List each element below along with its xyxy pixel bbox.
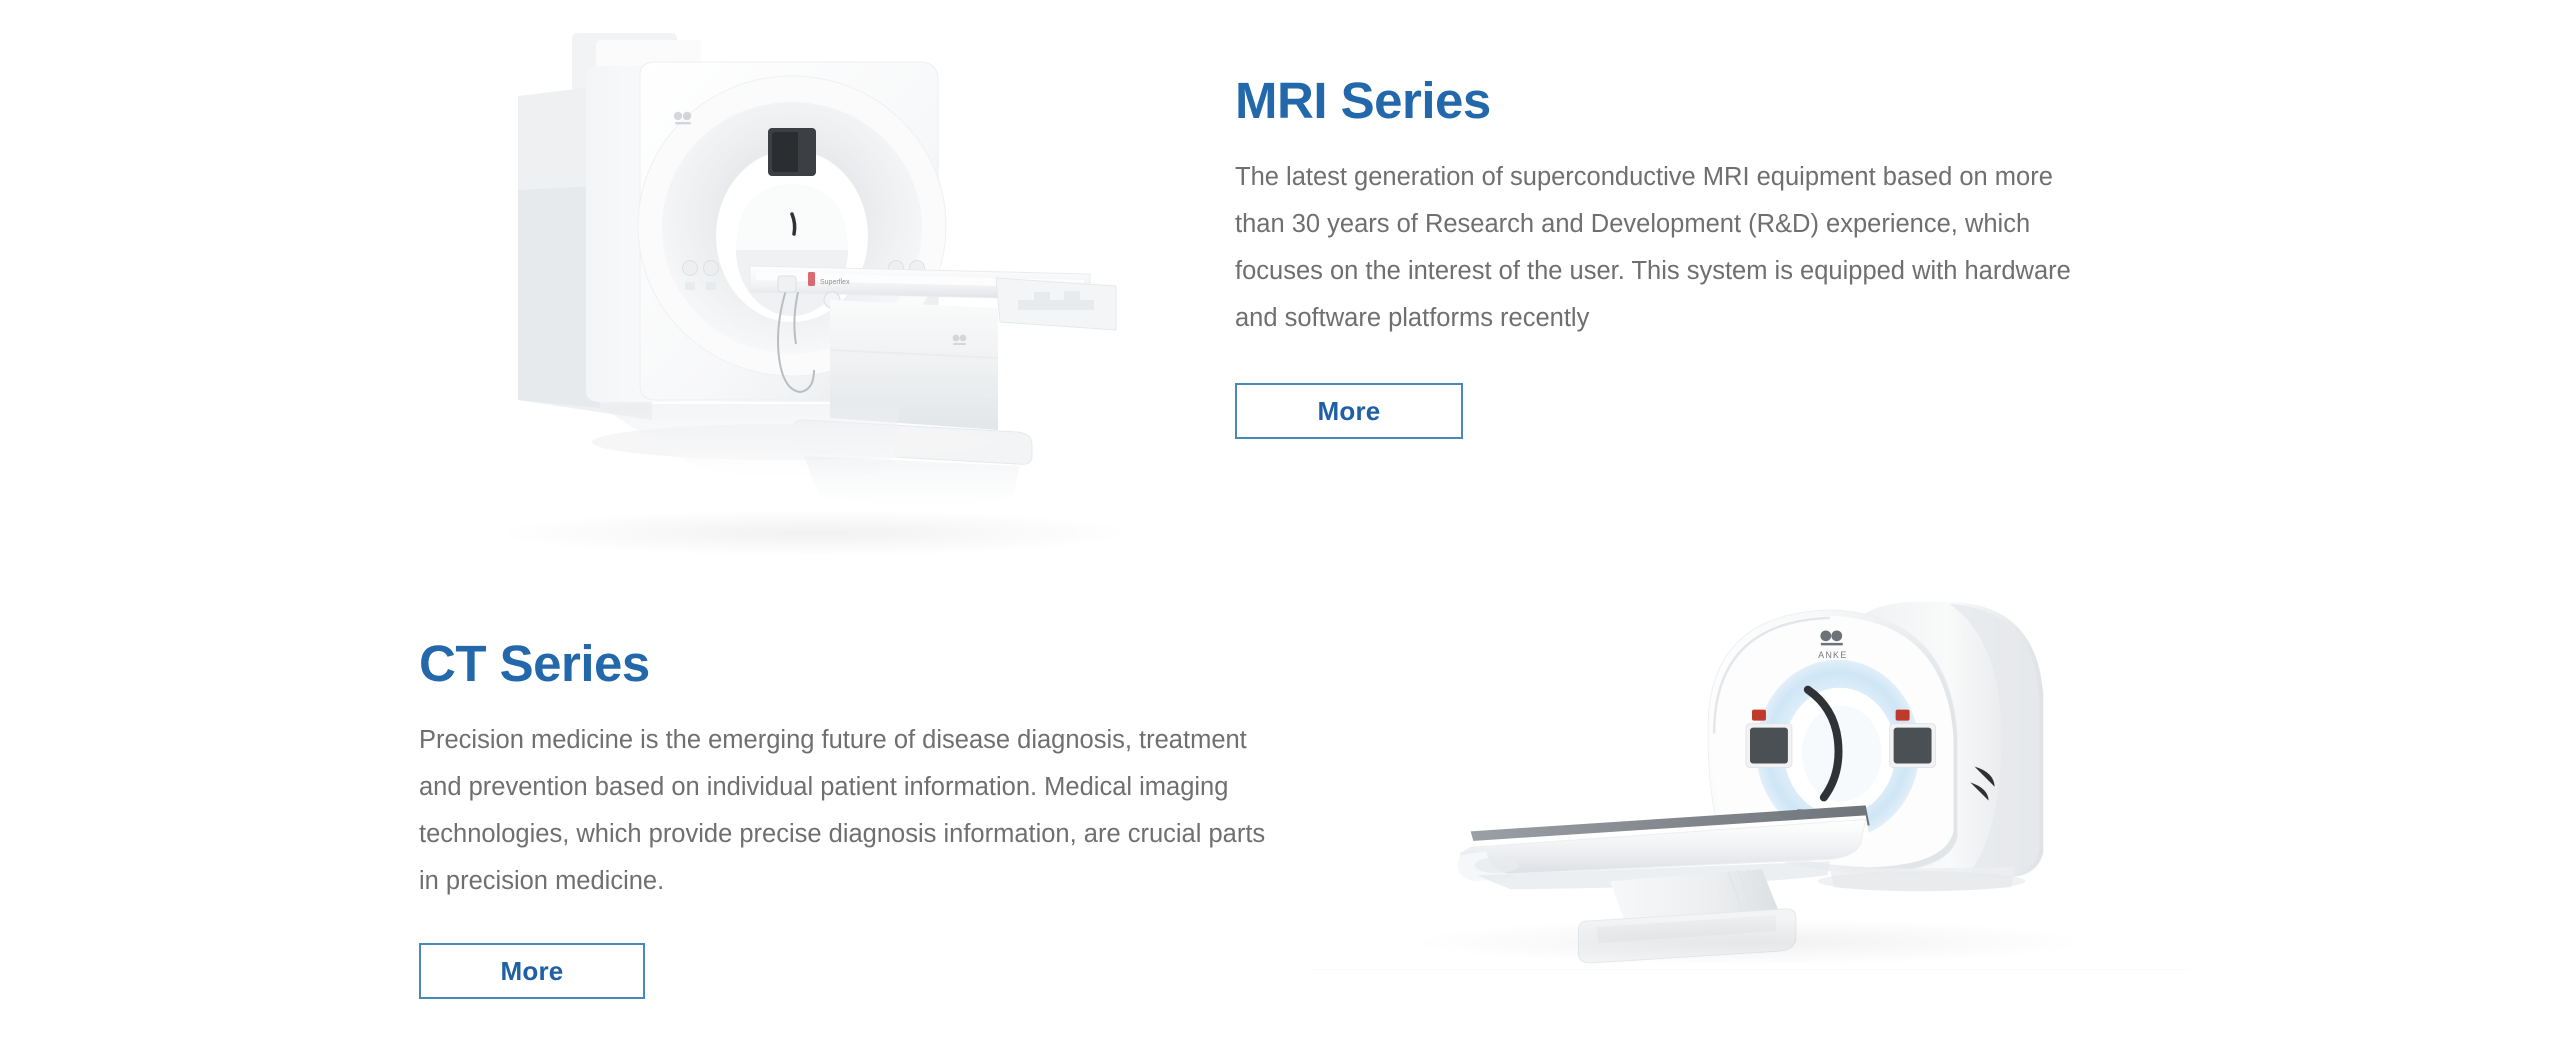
mri-text-column: MRI Series The latest generation of supe… xyxy=(1230,0,2130,439)
ct-series-description: Precision medicine is the emerging futur… xyxy=(419,717,1289,906)
svg-text:Superflex: Superflex xyxy=(820,279,850,286)
product-series-page: Superflex xyxy=(0,0,2560,1044)
mri-series-title: MRI Series xyxy=(1235,74,2130,128)
mri-scanner-photo: Superflex xyxy=(400,0,1230,560)
ct-scanner-photo: ANKE xyxy=(1310,570,2190,970)
svg-text:ANKE: ANKE xyxy=(1818,650,1847,660)
mri-more-button[interactable]: More xyxy=(1235,383,1463,439)
ct-series-title: CT Series xyxy=(419,637,1300,691)
ct-more-button[interactable]: More xyxy=(419,943,645,999)
ct-text-column: CT Series Precision medicine is the emer… xyxy=(400,560,1300,999)
section-ct-series: CT Series Precision medicine is the emer… xyxy=(0,560,2560,1044)
section-mri-series: Superflex xyxy=(0,0,2560,560)
mri-series-description: The latest generation of superconductive… xyxy=(1235,154,2105,343)
ct-media-column: ANKE xyxy=(1300,560,2190,970)
mri-media-column: Superflex xyxy=(0,0,1230,560)
